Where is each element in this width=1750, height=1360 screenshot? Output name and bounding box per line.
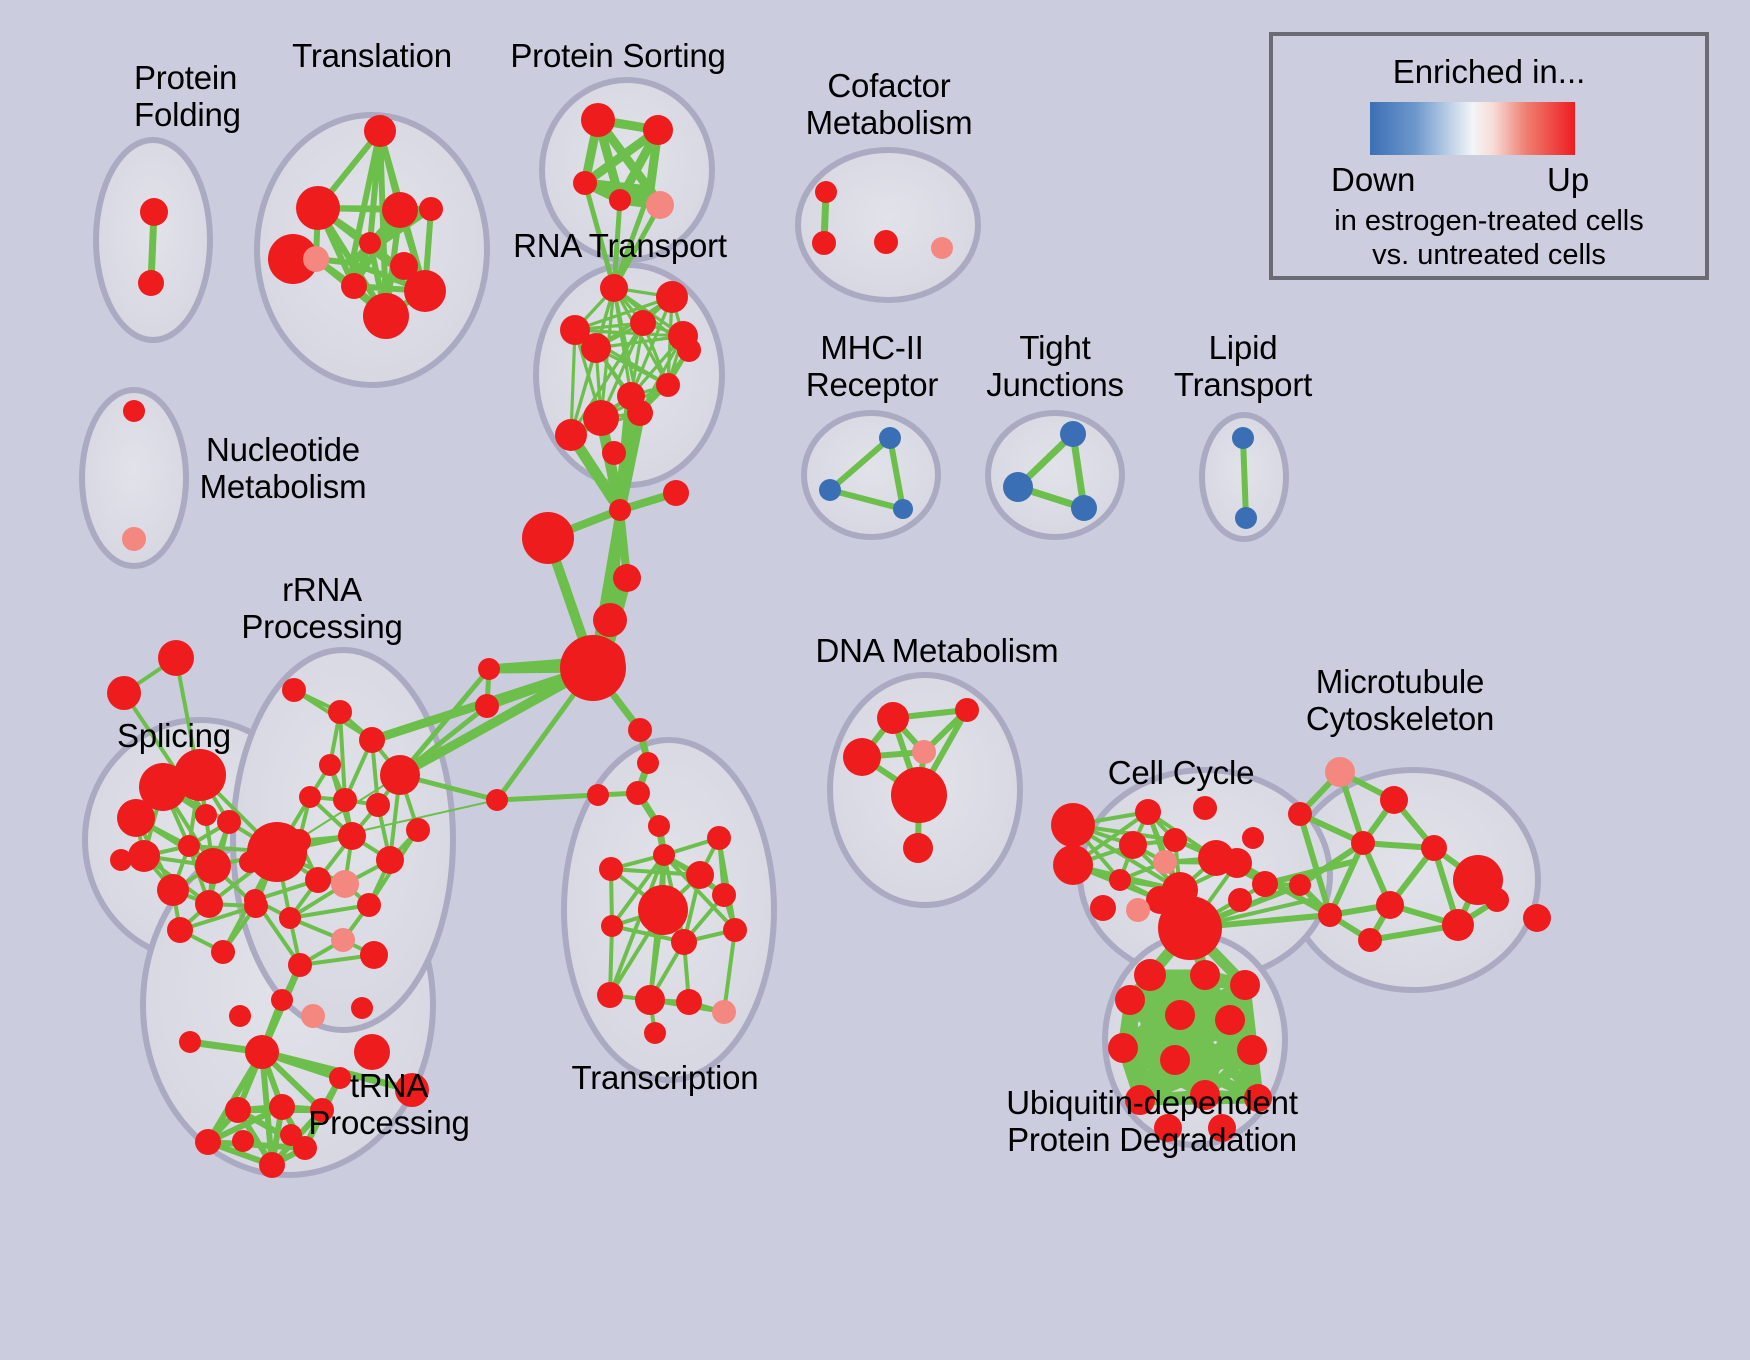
node (354, 1034, 390, 1070)
legend-color-gradient-bar (1370, 102, 1575, 155)
node (232, 1130, 254, 1152)
node (893, 499, 913, 519)
legend-title: Enriched in... (1273, 53, 1705, 91)
node (174, 749, 226, 801)
node (609, 189, 631, 211)
node (955, 698, 979, 722)
cluster-label-dna-metabolism: DNA Metabolism (816, 633, 1059, 670)
node (1163, 828, 1187, 852)
node (628, 718, 652, 742)
node (644, 1022, 666, 1044)
node (140, 198, 168, 226)
node (1376, 891, 1404, 919)
node (671, 929, 697, 955)
node (247, 822, 307, 882)
node (244, 889, 266, 911)
node (359, 727, 385, 753)
node (195, 848, 231, 884)
node (1318, 903, 1342, 927)
cluster-ellipse-mhc (804, 413, 938, 537)
node (138, 270, 164, 296)
node (360, 941, 388, 969)
node (1108, 1033, 1138, 1063)
node (677, 338, 701, 362)
node (581, 333, 611, 363)
node (128, 840, 160, 872)
node (1165, 1000, 1195, 1030)
node (158, 640, 194, 676)
node (195, 890, 223, 918)
node (406, 818, 430, 842)
node (305, 867, 331, 893)
node (117, 799, 155, 837)
node (217, 810, 241, 834)
node (229, 1005, 251, 1027)
node (646, 191, 674, 219)
node (341, 273, 367, 299)
node (707, 826, 731, 850)
legend-up-label: Up (1547, 161, 1589, 199)
legend-down-label: Down (1331, 161, 1415, 199)
node (364, 115, 396, 147)
node (1119, 831, 1147, 859)
node (331, 870, 359, 898)
node (195, 1129, 221, 1155)
node (107, 676, 141, 710)
cluster-label-nucleotide-metabolism: NucleotideMetabolism (200, 432, 367, 506)
node (891, 767, 947, 823)
cluster-label-lipid-transport: LipidTransport (1174, 330, 1312, 404)
node (676, 989, 702, 1015)
node (195, 804, 217, 826)
node (583, 400, 619, 436)
node (630, 310, 656, 336)
node (1237, 1035, 1267, 1065)
cluster-label-microtubule-cytoskeleton: MicrotubuleCytoskeleton (1306, 664, 1494, 738)
cluster-label-rrna-processing: rRNAProcessing (241, 572, 402, 646)
node (1090, 895, 1116, 921)
node (601, 915, 623, 937)
cluster-label-protein-sorting: Protein Sorting (510, 38, 725, 75)
node (338, 822, 366, 850)
node (1158, 896, 1222, 960)
cluster-label-translation: Translation (292, 38, 452, 75)
node (478, 658, 500, 680)
node (245, 1035, 279, 1069)
node (319, 754, 341, 776)
node (874, 230, 898, 254)
node (280, 1124, 302, 1146)
node (1289, 874, 1311, 896)
node (179, 1031, 201, 1053)
node (366, 793, 390, 817)
node (522, 512, 574, 564)
node (259, 1152, 285, 1178)
node (587, 784, 609, 806)
node (1325, 757, 1355, 787)
node (1109, 869, 1131, 891)
node (376, 846, 404, 874)
cluster-ellipse-tight-junctions (988, 413, 1122, 537)
node (602, 441, 626, 465)
node (627, 400, 653, 426)
node (279, 907, 301, 929)
node (1523, 904, 1551, 932)
node (1215, 1005, 1245, 1035)
node (211, 940, 235, 964)
node (1421, 835, 1447, 861)
node (288, 953, 312, 977)
node (877, 702, 909, 734)
node (404, 270, 446, 312)
node (1153, 850, 1177, 874)
cluster-label-mhc-ii-receptor: MHC-IIReceptor (806, 330, 938, 404)
node (663, 480, 689, 506)
node (299, 786, 321, 808)
node (613, 564, 641, 592)
node (301, 1004, 325, 1028)
node (712, 1000, 736, 1024)
node (1442, 909, 1474, 941)
node (1160, 1045, 1190, 1075)
node (585, 640, 625, 680)
node (1288, 802, 1312, 826)
node (419, 197, 443, 221)
node (1134, 959, 1166, 991)
legend-subtitle: in estrogen-treated cellsvs. untreated c… (1273, 204, 1705, 272)
node (599, 857, 623, 881)
node (122, 527, 146, 551)
node (359, 232, 381, 254)
node (225, 1097, 251, 1123)
cluster-label-protein-folding: ProteinFolding (134, 60, 241, 134)
cluster-label-cell-cycle: Cell Cycle (1108, 755, 1255, 792)
node (296, 186, 340, 230)
node (637, 752, 659, 774)
node (638, 885, 688, 935)
node (333, 788, 357, 812)
node (380, 755, 420, 795)
node (555, 419, 587, 451)
node (167, 917, 193, 943)
node (648, 815, 670, 837)
node (110, 849, 132, 871)
cluster-label-cofactor-metabolism: CofactorMetabolism (806, 68, 973, 142)
node (1252, 871, 1278, 897)
node (635, 985, 665, 1015)
node (1242, 827, 1264, 849)
node (1053, 845, 1093, 885)
node (931, 237, 953, 259)
cluster-label-rna-transport: RNA Transport (513, 228, 727, 265)
node (819, 479, 841, 501)
node (653, 844, 675, 866)
node (1071, 495, 1097, 521)
node (609, 499, 631, 521)
node (1051, 803, 1095, 847)
node (1232, 427, 1254, 449)
node (597, 982, 623, 1008)
node (328, 700, 352, 724)
node (303, 246, 329, 272)
node (723, 918, 747, 942)
cluster-label-transcription: Transcription (572, 1060, 759, 1097)
node (1135, 799, 1161, 825)
node (475, 694, 499, 718)
node (1351, 831, 1375, 855)
node (812, 231, 836, 255)
node (1358, 928, 1382, 952)
node (1222, 848, 1252, 878)
node (593, 603, 627, 637)
cluster-label-trna-processing: tRNAProcessing (308, 1068, 469, 1142)
cluster-label-ubiquitin-degradation: Ubiquitin-dependentProtein Degradation (1006, 1085, 1298, 1159)
enrichment-map-figure: ProteinFoldingTranslationProtein Sorting… (0, 0, 1750, 1360)
node (269, 1094, 295, 1120)
node (1380, 786, 1408, 814)
node (600, 274, 628, 302)
node (1003, 472, 1033, 502)
node (712, 883, 736, 907)
node (1228, 888, 1252, 912)
node (357, 893, 381, 917)
node (178, 835, 200, 857)
node (331, 928, 355, 952)
node (157, 874, 189, 906)
node (1193, 796, 1217, 820)
node (271, 989, 293, 1011)
node (879, 427, 901, 449)
node (1126, 898, 1150, 922)
node (643, 115, 673, 145)
node (282, 678, 306, 702)
node (1115, 985, 1145, 1015)
cluster-label-tight-junctions: TightJunctions (986, 330, 1124, 404)
node (1060, 421, 1086, 447)
node (581, 103, 615, 137)
node (1235, 507, 1257, 529)
node (363, 293, 409, 339)
node (1230, 970, 1260, 1000)
node (903, 833, 933, 863)
node (815, 181, 837, 203)
node (626, 781, 650, 805)
node (573, 171, 597, 195)
node (486, 789, 508, 811)
legend-panel: Enriched in... Down Up in estrogen-treat… (1269, 32, 1709, 280)
node (686, 861, 714, 889)
node (656, 373, 680, 397)
node (912, 740, 936, 764)
node (382, 192, 418, 228)
node (351, 997, 373, 1019)
node (1485, 888, 1509, 912)
node (843, 738, 881, 776)
node (656, 281, 688, 313)
cluster-label-splicing: Splicing (117, 718, 231, 755)
node (1190, 960, 1220, 990)
node (123, 400, 145, 422)
